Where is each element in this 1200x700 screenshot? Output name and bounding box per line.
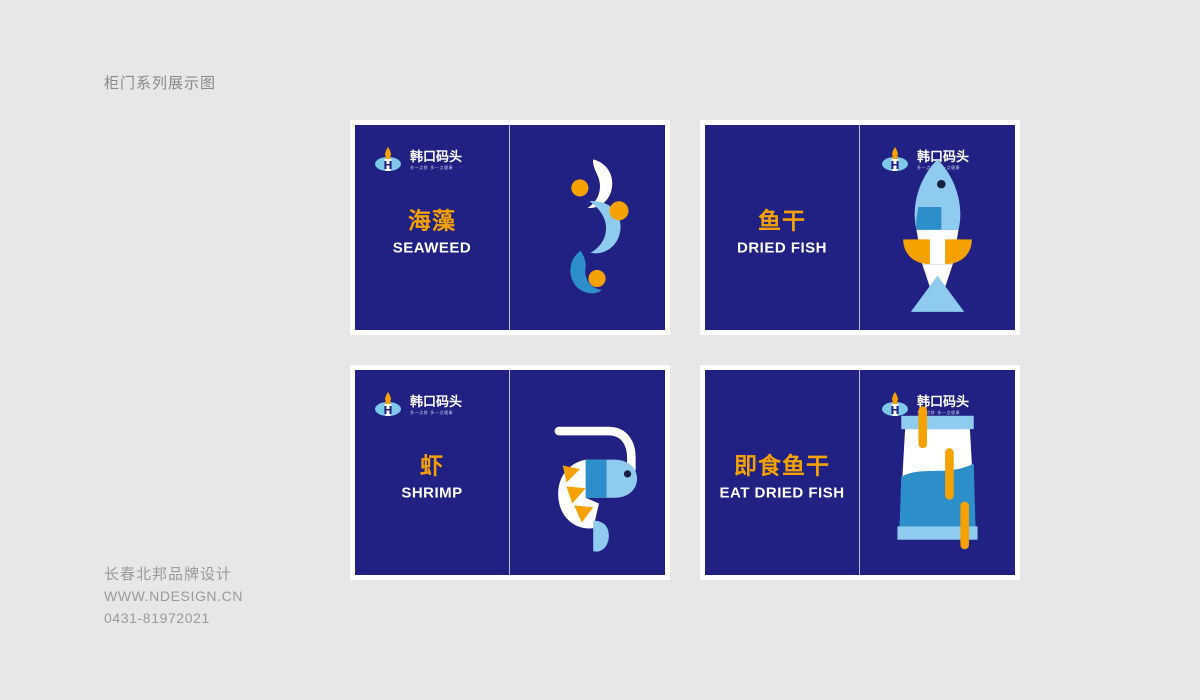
svg-text:H: H (383, 404, 392, 417)
panel-seaweed-label: 海藻 SEAWEED (355, 208, 509, 256)
panel-seaweed-label-cn: 海藻 (355, 208, 509, 234)
panel-dried-fish-label: 鱼干 DRIED FISH (705, 208, 859, 256)
panel-shrimp-left-half: H 韩口码头 多一点鲜 多一点健康 虾 SHRIMP (355, 370, 510, 575)
brand-logo: H 韩口码头 多一点鲜 多一点健康 (373, 390, 462, 420)
panel-seaweed[interactable]: H 韩口码头 多一点鲜 多一点健康 海藻 SEAWEED (350, 120, 670, 335)
panel-shrimp-label: 虾 SHRIMP (355, 453, 509, 501)
panel-seaweed-label-en: SEAWEED (355, 240, 509, 257)
snack-package-illustration (860, 370, 1015, 575)
footer-company: 长春北邦品牌设计 (104, 563, 243, 586)
panel-shrimp-right-half (510, 370, 665, 575)
fish-illustration (860, 125, 1015, 330)
cabinet-door-panel-grid: H 韩口码头 多一点鲜 多一点健康 海藻 SEAWEED (350, 120, 1030, 580)
panel-shrimp-label-en: SHRIMP (355, 485, 509, 502)
panel-dried-fish-label-cn: 鱼干 (705, 208, 859, 234)
panel-shrimp[interactable]: H 韩口码头 多一点鲜 多一点健康 虾 SHRIMP (350, 365, 670, 580)
shrimp-illustration (510, 370, 665, 575)
brand-tagline: 多一点鲜 多一点健康 (410, 166, 462, 170)
brand-logo: H 韩口码头 多一点鲜 多一点健康 (373, 145, 462, 175)
brand-name: 韩口码头 (410, 151, 462, 164)
brand-tagline: 多一点鲜 多一点健康 (410, 411, 462, 415)
svg-text:H: H (383, 159, 392, 172)
panel-eat-dried-fish-label-cn: 即食鱼干 (705, 453, 859, 479)
footer-credits: 长春北邦品牌设计 WWW.NDESIGN.CN 0431-81972021 (104, 563, 243, 630)
footer-phone: 0431-81972021 (104, 608, 243, 630)
panel-eat-dried-fish-label-en: EAT DRIED FISH (705, 485, 859, 502)
panel-shrimp-label-cn: 虾 (355, 453, 509, 479)
lighthouse-icon: H (373, 390, 403, 420)
panel-eat-dried-fish-left-half: 即食鱼干 EAT DRIED FISH (705, 370, 860, 575)
panel-dried-fish[interactable]: 鱼干 DRIED FISH H 韩口码头 多一点鲜 多一点健康 (700, 120, 1020, 335)
panel-seaweed-right-half (510, 125, 665, 330)
panel-seaweed-left-half: H 韩口码头 多一点鲜 多一点健康 海藻 SEAWEED (355, 125, 510, 330)
brand-logo-text: 韩口码头 多一点鲜 多一点健康 (410, 396, 462, 415)
page-title: 柜门系列展示图 (104, 72, 216, 93)
panel-dried-fish-right-half: H 韩口码头 多一点鲜 多一点健康 (860, 125, 1015, 330)
panel-eat-dried-fish-right-half: H 韩口码头 多一点鲜 多一点健康 (860, 370, 1015, 575)
panel-dried-fish-label-en: DRIED FISH (705, 240, 859, 257)
brand-logo-text: 韩口码头 多一点鲜 多一点健康 (410, 151, 462, 170)
panel-dried-fish-left-half: 鱼干 DRIED FISH (705, 125, 860, 330)
panel-eat-dried-fish-label: 即食鱼干 EAT DRIED FISH (705, 453, 859, 501)
lighthouse-icon: H (373, 145, 403, 175)
panel-eat-dried-fish[interactable]: 即食鱼干 EAT DRIED FISH H 韩口码头 多一点鲜 多一点 (700, 365, 1020, 580)
footer-website[interactable]: WWW.NDESIGN.CN (104, 586, 243, 608)
seaweed-illustration (510, 125, 665, 330)
brand-name: 韩口码头 (410, 396, 462, 409)
